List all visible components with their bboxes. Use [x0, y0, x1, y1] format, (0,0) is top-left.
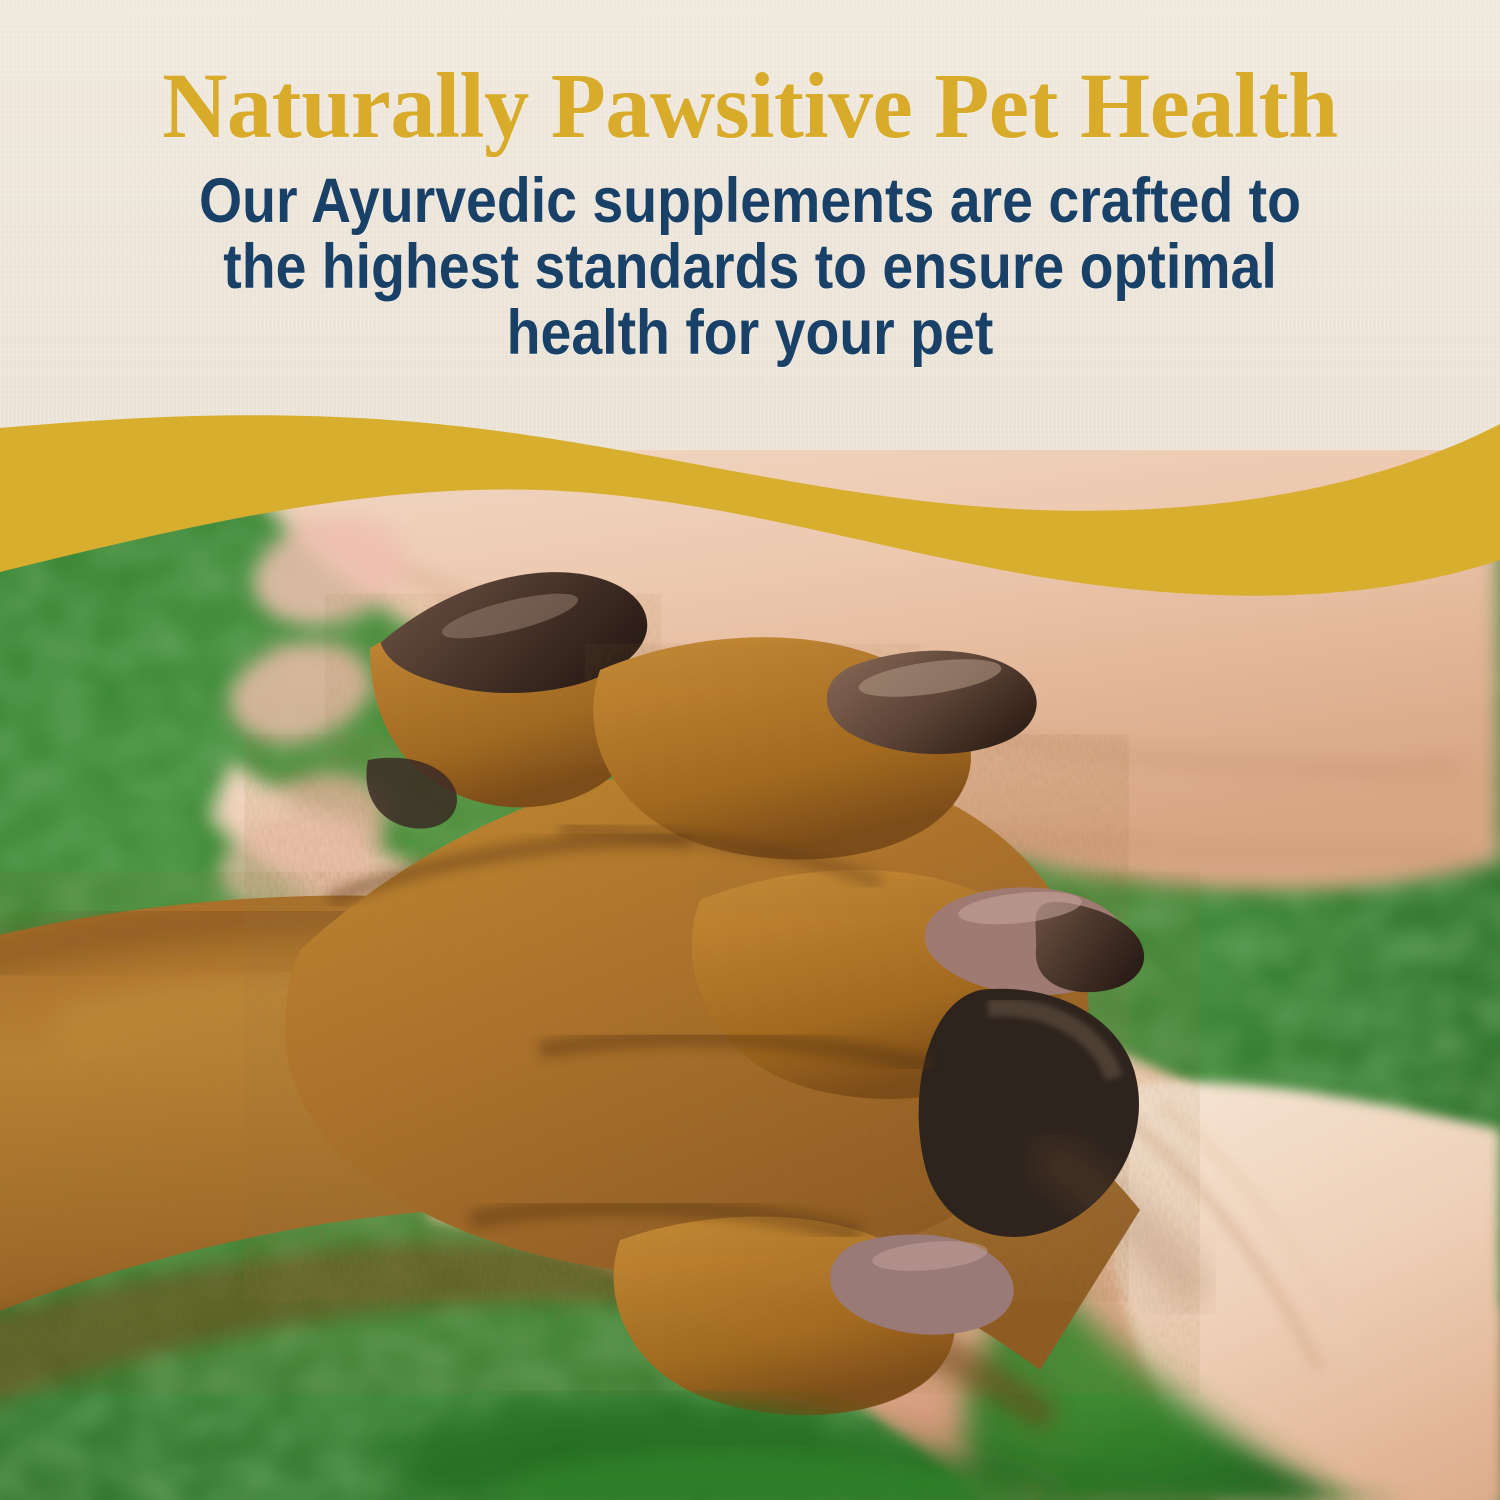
page-title: Naturally Pawsitive Pet Health	[23, 60, 1478, 153]
hero-photo	[0, 430, 1500, 1500]
promo-banner: Naturally Pawsitive Pet Health Our Ayurv…	[0, 0, 1500, 1500]
header-panel: Naturally Pawsitive Pet Health Our Ayurv…	[0, 0, 1500, 450]
subtitle-line-2: the highest standards to ensure optimal	[112, 234, 1388, 300]
subtitle-line-3: health for your pet	[112, 300, 1388, 366]
subtitle-line-1: Our Ayurvedic supplements are crafted to	[112, 168, 1388, 234]
subtitle: Our Ayurvedic supplements are crafted to…	[112, 168, 1388, 366]
